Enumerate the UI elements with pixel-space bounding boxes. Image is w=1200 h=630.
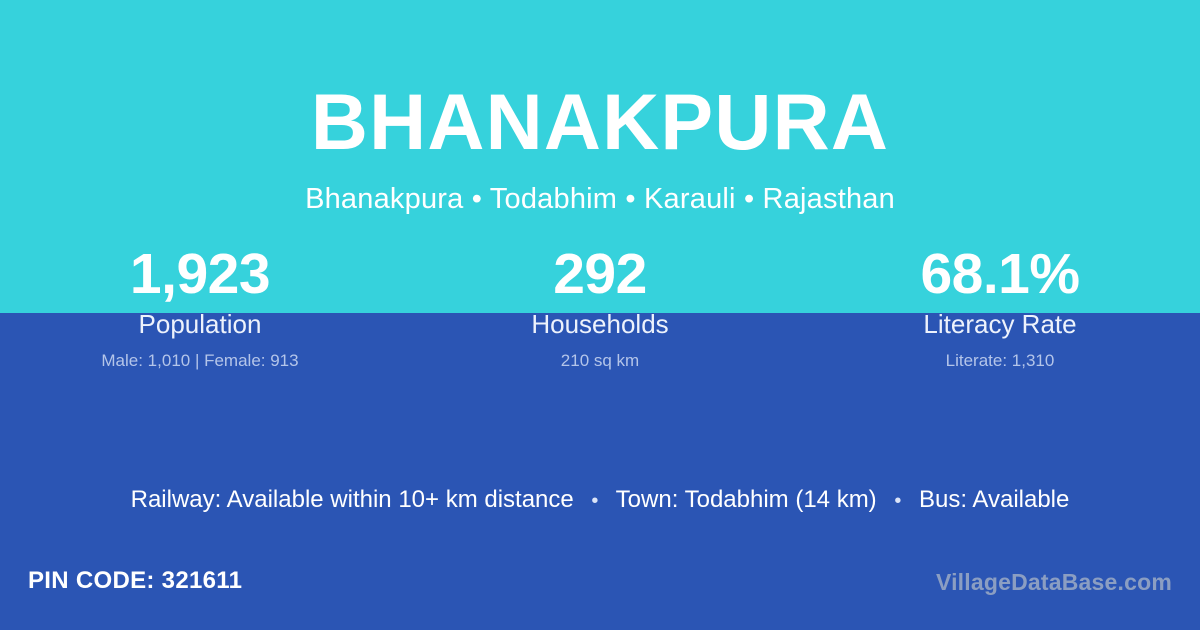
stat-value: 292: [400, 243, 800, 305]
breadcrumb: Bhanakpura • Todabhim • Karauli • Rajast…: [0, 161, 1200, 214]
amenity-bus: Bus: Available: [919, 486, 1069, 513]
stat-label: Literacy Rate: [800, 305, 1200, 341]
amenities-line: Railway: Available within 10+ km distanc…: [0, 485, 1200, 516]
stat-value: 1,923: [0, 243, 400, 305]
stats-row: 1,923 Population Male: 1,010 | Female: 9…: [0, 243, 1200, 373]
stat-sublabel: Male: 1,010 | Female: 913: [0, 341, 400, 373]
card-footer: PIN CODE: 321611 VillageDataBase.com: [0, 554, 1200, 630]
amenity-nearest-town: Town: Todabhim (14 km): [616, 486, 877, 513]
card-header: BHANAKPURA Bhanakpura • Todabhim • Karau…: [0, 0, 1200, 214]
stat-value: 68.1%: [800, 243, 1200, 305]
stat-label: Population: [0, 305, 400, 341]
stat-sublabel: Literate: 1,310: [800, 341, 1200, 373]
amenity-railway: Railway: Available within 10+ km distanc…: [131, 486, 574, 513]
pin-code: PIN CODE: 321611: [28, 566, 242, 596]
stat-population: 1,923 Population Male: 1,010 | Female: 9…: [0, 243, 400, 373]
bullet-separator-icon: •: [883, 486, 912, 516]
stat-label: Households: [400, 305, 800, 341]
village-info-card: BHANAKPURA Bhanakpura • Todabhim • Karau…: [0, 0, 1200, 630]
site-brand: VillageDataBase.com: [936, 567, 1172, 597]
stat-sublabel: 210 sq km: [400, 341, 800, 373]
page-title: BHANAKPURA: [0, 0, 1200, 161]
bullet-separator-icon: •: [580, 486, 609, 516]
stat-literacy-rate: 68.1% Literacy Rate Literate: 1,310: [800, 243, 1200, 373]
stat-households: 292 Households 210 sq km: [400, 243, 800, 373]
